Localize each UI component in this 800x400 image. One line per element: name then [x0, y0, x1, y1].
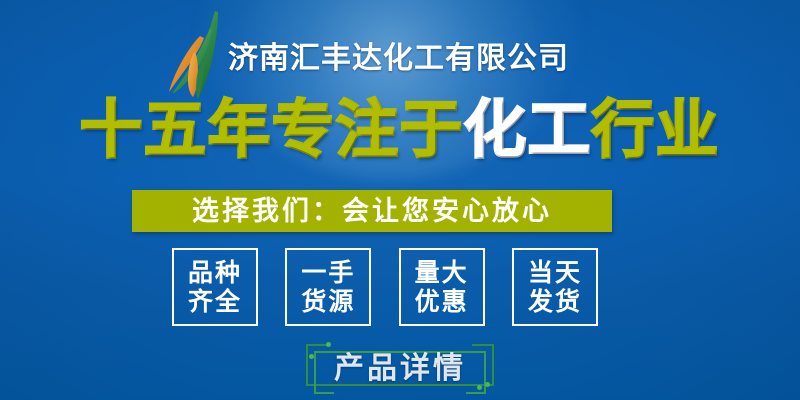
- feature-box-1[interactable]: 品种 齐全: [172, 248, 258, 326]
- product-details-button[interactable]: 产品详情: [300, 342, 500, 396]
- feature-box-4-line-1: 当天: [528, 259, 582, 286]
- promo-banner: 济南汇丰达化工有限公司 十五年专注于化工行业 选择我们：会让您安心放心 品种 齐…: [0, 0, 800, 400]
- feature-box-1-line-1: 品种: [188, 259, 242, 286]
- feature-box-3-line-1: 量大: [415, 259, 469, 286]
- feature-box-2-line-1: 一手: [301, 259, 355, 286]
- feature-box-1-line-2: 齐全: [188, 288, 242, 315]
- feature-box-2[interactable]: 一手 货源: [285, 248, 371, 326]
- feature-box-4-line-2: 发货: [528, 288, 582, 315]
- feature-box-2-line-2: 货源: [301, 288, 355, 315]
- subtitle-text: 选择我们：会让您安心放心: [192, 198, 552, 225]
- headline: 十五年专注于化工行业: [0, 99, 800, 161]
- company-name: 济南汇丰达化工有限公司: [228, 44, 569, 74]
- subtitle-bar: 选择我们：会让您安心放心: [132, 190, 612, 232]
- feature-box-list: 品种 齐全 一手 货源 量大 优惠 当天 发货: [172, 248, 598, 326]
- headline-part-3: 行业: [592, 99, 720, 161]
- feature-box-3[interactable]: 量大 优惠: [399, 248, 485, 326]
- feature-box-4[interactable]: 当天 发货: [512, 248, 598, 326]
- leaf-sprout-logo-icon: [163, 8, 233, 103]
- company-logo: [163, 8, 233, 103]
- feature-box-3-line-2: 优惠: [415, 288, 469, 315]
- headline-part-2: 化工: [464, 99, 592, 161]
- product-details-label: 产品详情: [300, 342, 500, 396]
- headline-part-1: 十五年专注于: [80, 99, 464, 161]
